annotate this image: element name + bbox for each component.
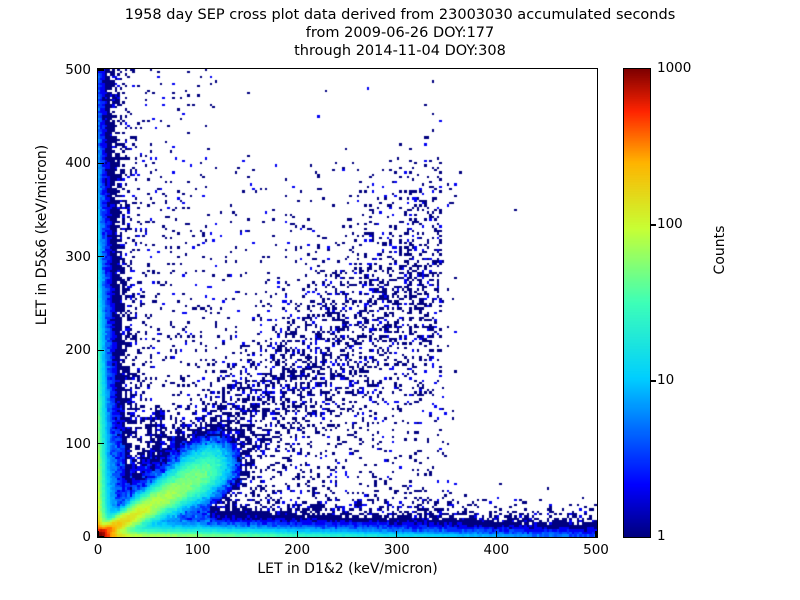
x-tick-mark [396, 531, 397, 537]
colorbar-tick-mark [651, 224, 656, 225]
colorbar-tick-mark [651, 380, 656, 381]
y-tick-mark [98, 69, 104, 70]
colorbar-tick-label: 10 [657, 372, 674, 388]
colorbar-tick-label: 100 [657, 216, 683, 232]
x-tick-label: 300 [367, 542, 427, 558]
colorbar-gradient [624, 69, 650, 537]
x-tick-label: 500 [566, 542, 626, 558]
x-tick-label: 200 [267, 542, 327, 558]
y-tick-mark [98, 163, 104, 164]
y-tick-mark [98, 256, 104, 257]
x-tick-mark [496, 531, 497, 537]
chart-title: 1958 day SEP cross plot data derived fro… [0, 6, 800, 60]
chart-figure: 1958 day SEP cross plot data derived fro… [0, 0, 800, 600]
y-tick-mark [98, 536, 104, 537]
y-tick-label: 0 [39, 529, 91, 545]
density-scatter-canvas [98, 69, 597, 537]
colorbar-tick-label: 1 [657, 528, 666, 544]
y-axis-label: LET in D5&6 (keV/micron) [34, 45, 50, 425]
colorbar-tick-label: 1000 [657, 60, 691, 76]
colorbar [623, 68, 651, 538]
x-tick-mark [197, 531, 198, 537]
plot-area [97, 68, 598, 538]
x-tick-mark [297, 531, 298, 537]
y-tick-mark [98, 350, 104, 351]
y-tick-mark [98, 443, 104, 444]
x-tick-label: 400 [466, 542, 526, 558]
y-tick-label: 100 [39, 436, 91, 452]
x-tick-label: 100 [168, 542, 228, 558]
colorbar-label: Counts [712, 160, 728, 340]
x-axis-label: LET in D1&2 (keV/micron) [97, 561, 598, 577]
x-tick-mark [595, 531, 596, 537]
